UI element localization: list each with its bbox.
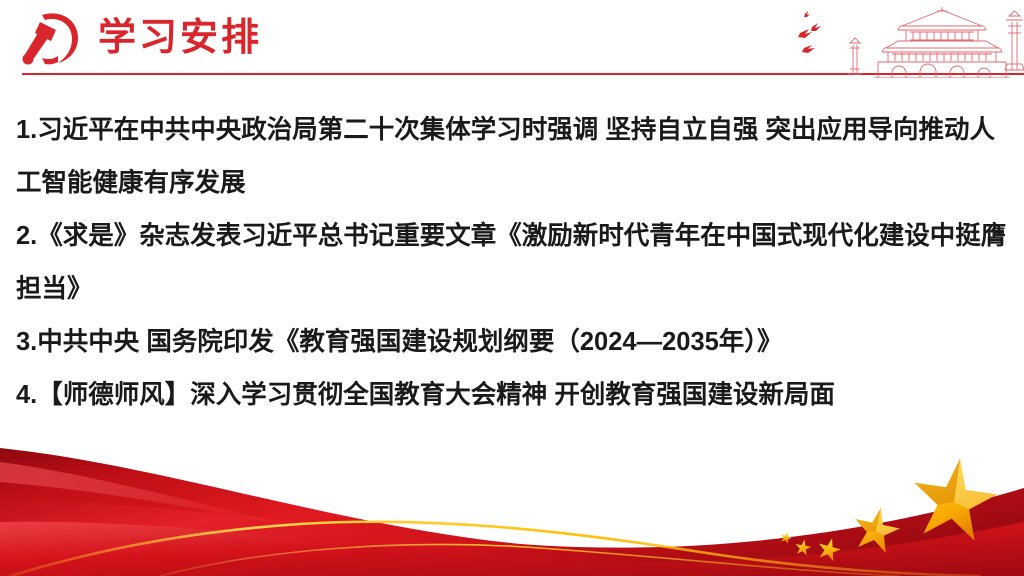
list-item: 3.中共中央 国务院印发《教育强国建设规划纲要（2024—2035年）》 [16,316,1012,369]
page-title: 学习安排 [98,14,262,62]
tiananmen-gate-icon [774,0,1024,78]
slide-canvas: 学习安排 [0,0,1024,576]
hammer-sickle-icon [18,8,86,68]
list-item: 1.习近平在中共中央政治局第二十次集体学习时强调 坚持自立自强 突出应用导向推动… [16,104,1012,210]
list-item: 2.《求是》杂志发表习近平总书记重要文章《激励新时代青年在中国式现代化建设中挺膺… [16,210,1012,316]
red-ribbon-wave [0,426,1024,576]
slide-header: 学习安排 [0,0,1024,86]
study-arrangement-list: 1.习近平在中共中央政治局第二十次集体学习时强调 坚持自立自强 突出应用导向推动… [16,104,1012,422]
list-item: 4.【师德师风】深入学习贯彻全国教育大会精神 开创教育强国建设新局面 [16,369,1012,422]
five-gold-stars [779,448,1014,568]
